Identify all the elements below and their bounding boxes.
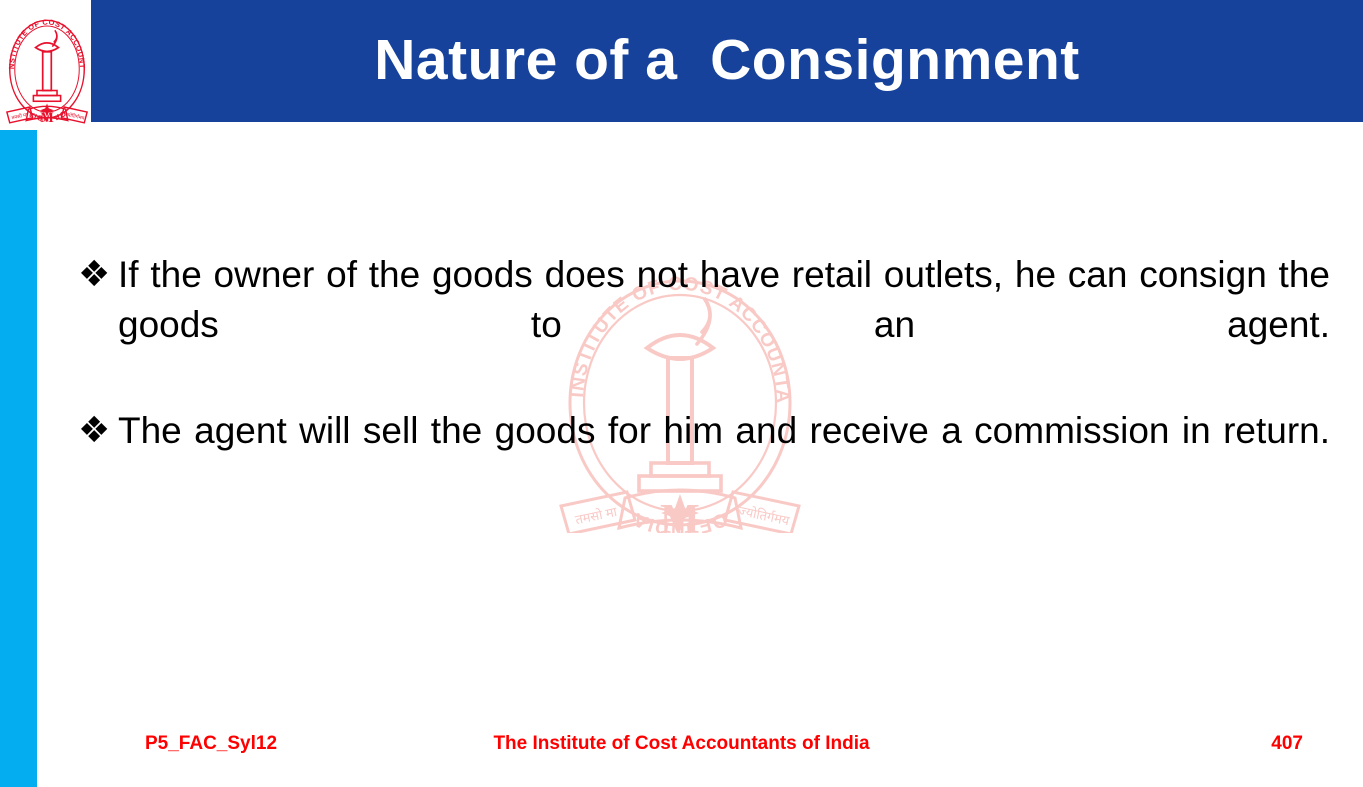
list-item: ❖ The agent will sell the goods for him … [72, 406, 1330, 506]
left-accent-bar [0, 130, 37, 787]
slide-title: Nature of a Consignment [91, 31, 1363, 91]
diamond-bullet-icon: ❖ [72, 406, 118, 456]
title-bar: Nature of a Consignment [91, 0, 1363, 122]
list-item: ❖ If the owner of the goods does not hav… [72, 250, 1330, 400]
bullet-text: If the owner of the goods does not have … [118, 250, 1330, 400]
icai-logo: THE INSTITUTE OF COST ACCOUNTANTS OF IND… [4, 2, 90, 126]
bullet-list: ❖ If the owner of the goods does not hav… [72, 250, 1330, 506]
bullet-text: The agent will sell the goods for him an… [118, 406, 1330, 506]
svg-text:THE INSTITUTE OF COST ACCOUNTA: THE INSTITUTE OF COST ACCOUNTANTS [4, 2, 87, 69]
slide-footer: P5_FAC_Syl12 The Institute of Cost Accou… [0, 733, 1363, 767]
footer-page-number: 407 [1271, 733, 1303, 755]
footer-institute-name: The Institute of Cost Accountants of Ind… [0, 733, 1363, 755]
slide-root: Nature of a Consignment THE INSTITUTE OF… [0, 0, 1363, 787]
svg-text:M: M [40, 110, 54, 126]
diamond-bullet-icon: ❖ [72, 250, 118, 300]
slide-body: ❖ If the owner of the goods does not hav… [72, 250, 1330, 680]
